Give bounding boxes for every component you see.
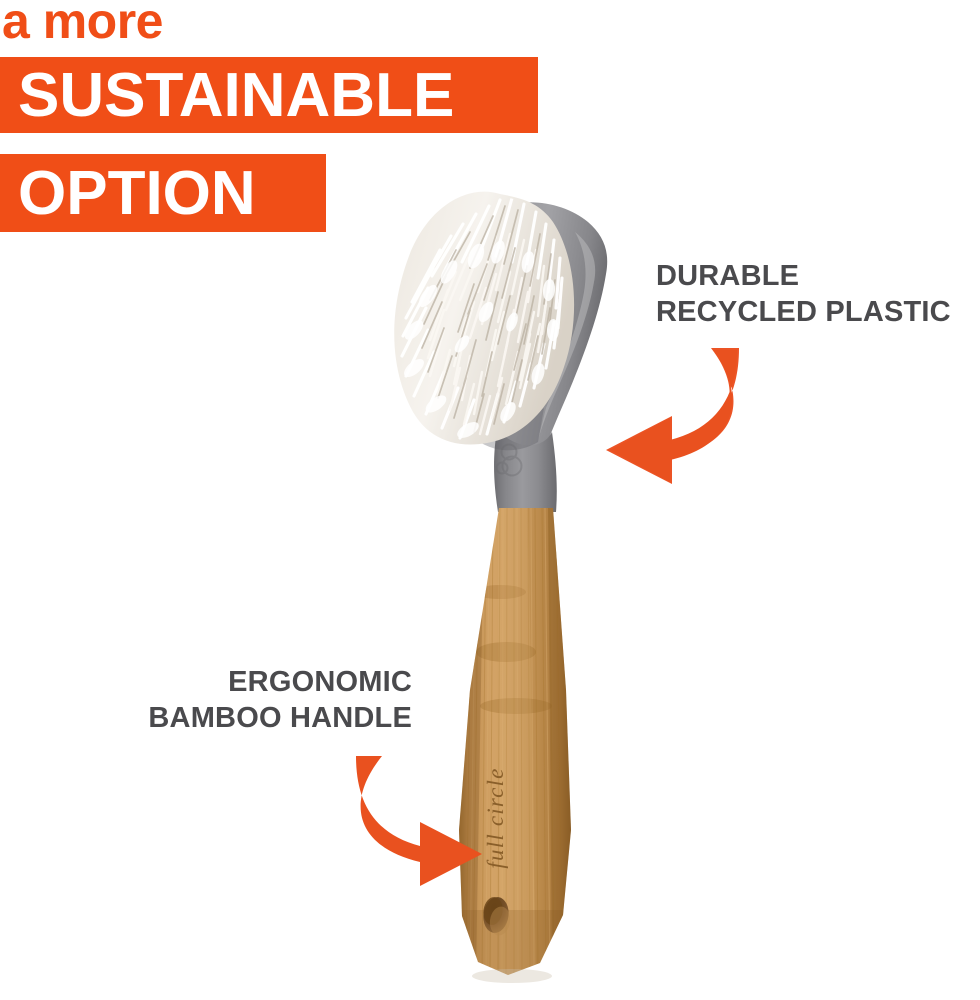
callout-plastic-line-2: RECYCLED PLASTIC	[656, 294, 951, 330]
infographic-canvas: full circle a more SUSTAINABLE OPTION DU…	[0, 0, 980, 1000]
curved-arrow-left-icon	[596, 338, 786, 488]
callout-bamboo-line-1: ERGONOMIC	[0, 664, 412, 700]
headline-line-3: OPTION	[18, 158, 256, 229]
curved-arrow-right-icon	[312, 748, 492, 888]
headline-band-option: OPTION	[0, 154, 326, 232]
callout-durable-recycled-plastic: DURABLE RECYCLED PLASTIC	[656, 258, 951, 330]
bamboo-handle: full circle	[452, 508, 580, 985]
headline-band-sustainable: SUSTAINABLE	[0, 57, 538, 133]
callout-bamboo-line-2: BAMBOO HANDLE	[0, 700, 412, 736]
headline-line-1: a more	[2, 0, 163, 46]
headline-line-2: SUSTAINABLE	[18, 60, 454, 131]
callout-plastic-line-1: DURABLE	[656, 258, 951, 294]
callout-ergonomic-bamboo-handle: ERGONOMIC BAMBOO HANDLE	[0, 664, 412, 736]
